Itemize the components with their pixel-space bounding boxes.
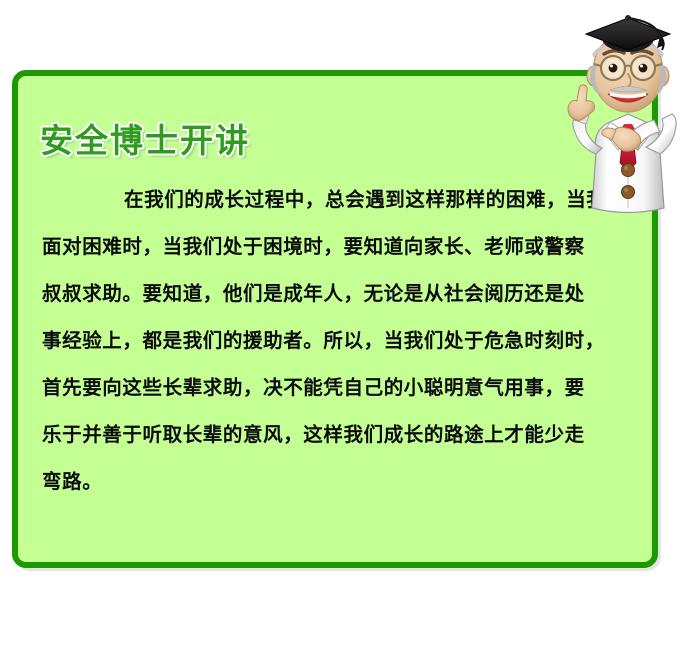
body-line: 弯路。 [42, 458, 634, 505]
professor-mascot [566, 2, 690, 250]
body-line: 事经验上，都是我们的援助者。所以，当我们处于危急时刻时， [42, 317, 634, 364]
body-line: 乐于并善于听取长辈的意风，这样我们成长的路途上才能少走 [42, 411, 634, 458]
body-line: 在我们的成长过程中，总会遇到这样那样的困难，当我们 [42, 176, 634, 223]
body-line: 面对困难时，当我们处于困境时，要知道向家长、老师或警察 [42, 223, 634, 270]
content-panel: 安全博士开讲 在我们的成长过程中，总会遇到这样那样的困难，当我们 面对困难时，当… [12, 70, 658, 568]
body-text-block: 在我们的成长过程中，总会遇到这样那样的困难，当我们 面对困难时，当我们处于困境时… [42, 176, 634, 505]
page-title: 安全博士开讲 [40, 114, 250, 162]
graduation-cap-icon [586, 15, 670, 52]
body-line: 叔叔求助。要知道，他们是成年人，无论是从社会阅历还是处 [42, 270, 634, 317]
body-line: 首先要向这些长辈求助，决不能凭自己的小聪明意气用事，要 [42, 364, 634, 411]
poster-canvas: 安全博士开讲 在我们的成长过程中，总会遇到这样那样的困难，当我们 面对困难时，当… [0, 0, 690, 650]
